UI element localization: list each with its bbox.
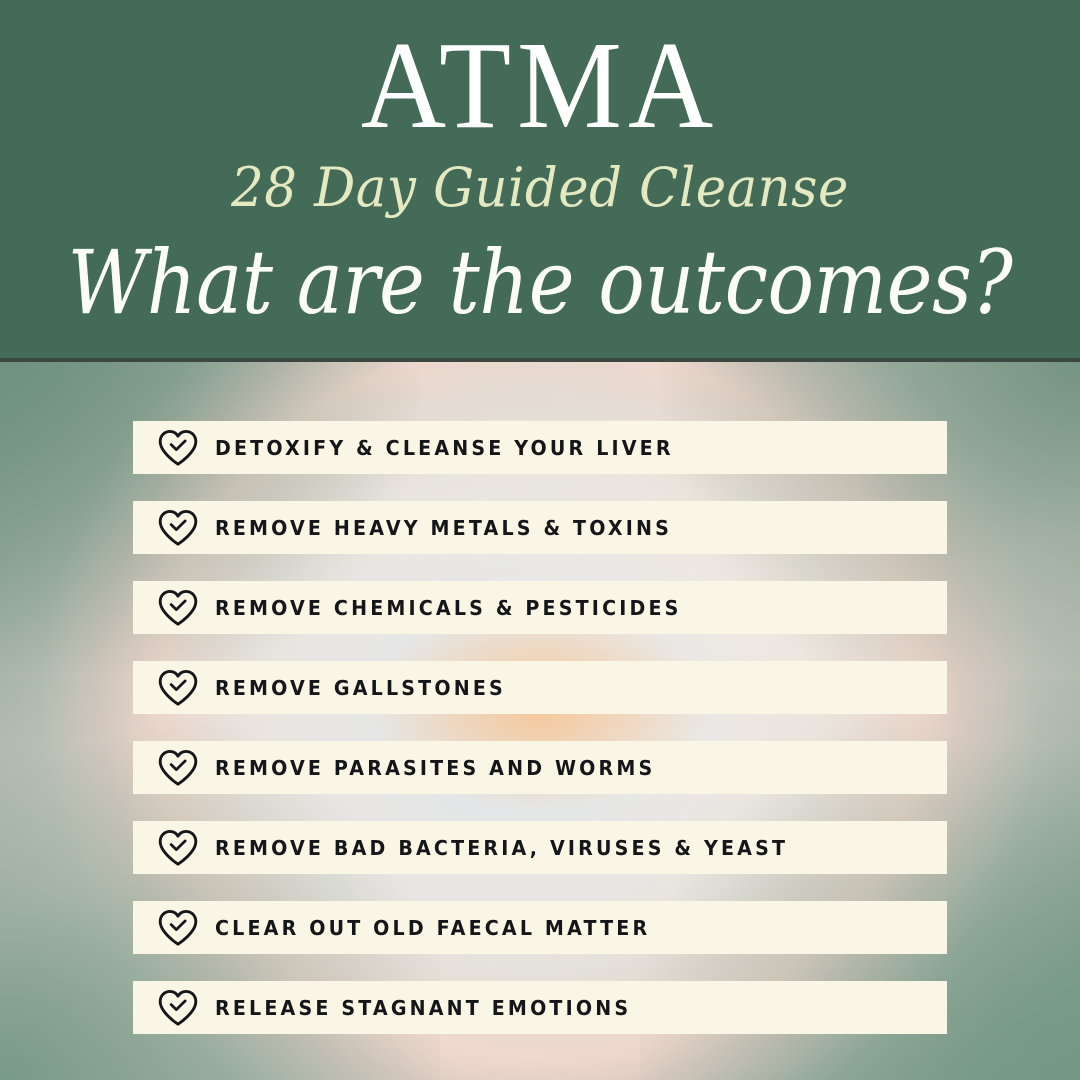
heart-check-icon (133, 828, 215, 868)
outcome-label: CLEAR OUT OLD FAECAL MATTER (215, 916, 650, 940)
headline-question: What are the outcomes? (65, 232, 1015, 333)
heart-check-icon (133, 748, 215, 788)
heart-check-icon (133, 908, 215, 948)
outcome-label: REMOVE GALLSTONES (215, 676, 506, 700)
outcome-row: REMOVE CHEMICALS & PESTICIDES (133, 581, 947, 634)
brand-title: ATMA (0, 22, 1080, 150)
outcome-row: REMOVE PARASITES AND WORMS (133, 741, 947, 794)
outcome-label: REMOVE PARASITES AND WORMS (215, 756, 655, 780)
outcome-row: DETOXIFY & CLEANSE YOUR LIVER (133, 421, 947, 474)
outcome-label: REMOVE HEAVY METALS & TOXINS (215, 516, 672, 540)
poster-canvas: ATMA 28 Day Guided Cleanse What are the … (0, 0, 1080, 1080)
outcome-row: REMOVE GALLSTONES (133, 661, 947, 714)
body-panel: DETOXIFY & CLEANSE YOUR LIVER REMOVE HEA… (0, 362, 1080, 1080)
heart-check-icon (133, 508, 215, 548)
outcome-label: REMOVE BAD BACTERIA, VIRUSES & YEAST (215, 836, 788, 860)
heart-check-icon (133, 588, 215, 628)
program-subtitle: 28 Day Guided Cleanse (27, 158, 1053, 217)
heart-check-icon (133, 988, 215, 1028)
outcome-row: CLEAR OUT OLD FAECAL MATTER (133, 901, 947, 954)
outcome-label: DETOXIFY & CLEANSE YOUR LIVER (215, 436, 674, 460)
header-divider (0, 358, 1080, 362)
outcome-row: RELEASE STAGNANT EMOTIONS (133, 981, 947, 1034)
outcome-label: REMOVE CHEMICALS & PESTICIDES (215, 596, 682, 620)
outcome-row: REMOVE HEAVY METALS & TOXINS (133, 501, 947, 554)
header-panel: ATMA 28 Day Guided Cleanse What are the … (0, 0, 1080, 358)
heart-check-icon (133, 668, 215, 708)
outcomes-list: DETOXIFY & CLEANSE YOUR LIVER REMOVE HEA… (133, 421, 947, 1034)
heart-check-icon (133, 428, 215, 468)
outcome-row: REMOVE BAD BACTERIA, VIRUSES & YEAST (133, 821, 947, 874)
outcome-label: RELEASE STAGNANT EMOTIONS (215, 996, 631, 1020)
